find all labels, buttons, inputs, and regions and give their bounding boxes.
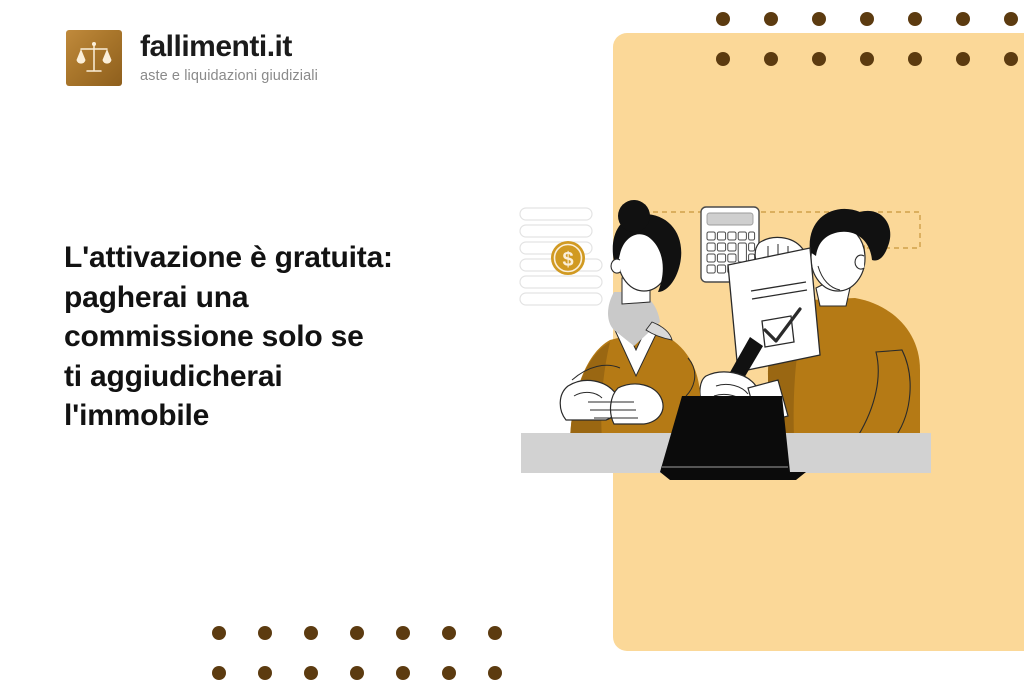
decorative-dot xyxy=(812,52,826,66)
brand-title: fallimenti.it xyxy=(140,32,318,62)
dollar-coin-icon: $ xyxy=(551,241,585,275)
decorative-dot xyxy=(812,12,826,26)
dot-pattern-bottom-left xyxy=(212,626,512,682)
decorative-dot xyxy=(908,52,922,66)
brand-logo[interactable]: fallimenti.it aste e liquidazioni giudiz… xyxy=(66,30,318,86)
decorative-dot xyxy=(212,666,226,680)
dot-pattern-top-right xyxy=(716,0,1016,92)
decorative-dot xyxy=(764,52,778,66)
decorative-dot xyxy=(350,666,364,680)
decorative-dot xyxy=(956,52,970,66)
decorative-dot xyxy=(258,626,272,640)
decorative-dot xyxy=(442,666,456,680)
decorative-dot xyxy=(908,12,922,26)
decorative-dot xyxy=(764,12,778,26)
decorative-dot xyxy=(1004,12,1018,26)
page-title: L'attivazione è gratuita: pagherai una c… xyxy=(64,238,494,436)
brand-logo-text: fallimenti.it aste e liquidazioni giudiz… xyxy=(140,32,318,84)
two-people-signing-contract-illustration: $ xyxy=(510,180,940,480)
brand-subtitle: aste e liquidazioni giudiziali xyxy=(140,69,318,84)
decorative-dot xyxy=(956,12,970,26)
decorative-dot xyxy=(396,666,410,680)
decorative-dot xyxy=(488,626,502,640)
decorative-dot xyxy=(304,626,318,640)
decorative-dot xyxy=(1004,52,1018,66)
decorative-dot xyxy=(304,666,318,680)
svg-text:$: $ xyxy=(562,249,573,271)
decorative-dot xyxy=(258,666,272,680)
banner-canvas: fallimenti.it aste e liquidazioni giudiz… xyxy=(0,0,1024,682)
decorative-dot xyxy=(488,666,502,680)
decorative-dot xyxy=(716,12,730,26)
scales-of-justice-icon xyxy=(66,30,122,86)
decorative-dot xyxy=(860,52,874,66)
decorative-dot xyxy=(860,12,874,26)
decorative-dot xyxy=(350,626,364,640)
decorative-dot xyxy=(716,52,730,66)
decorative-dot xyxy=(212,626,226,640)
decorative-dot xyxy=(396,626,410,640)
decorative-dot xyxy=(442,626,456,640)
